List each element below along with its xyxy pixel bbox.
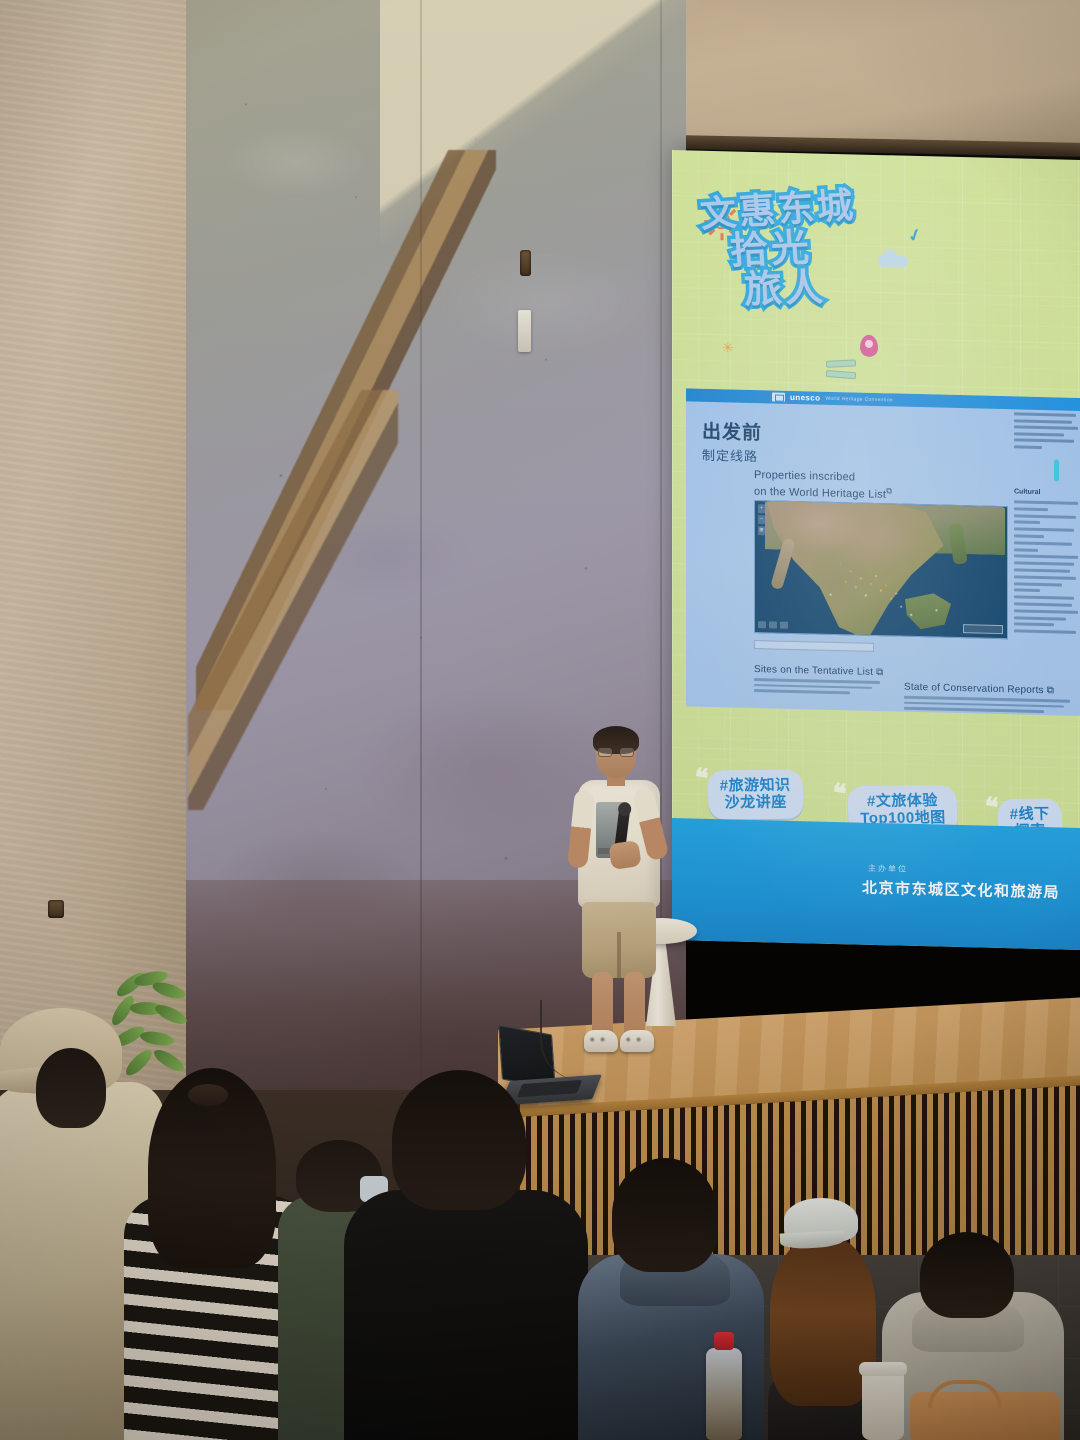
slide-heading-cn: 出发前 xyxy=(702,417,762,445)
properties-heading-line1: Properties inscribed xyxy=(754,469,855,483)
external-link-icon[interactable]: ⧉ xyxy=(886,486,892,495)
drink-bottle xyxy=(706,1348,742,1440)
scrollbar-thumb[interactable] xyxy=(1054,459,1059,481)
tentative-list-body xyxy=(754,678,884,698)
unesco-subtitle: World Heritage Convention xyxy=(825,395,892,403)
wall-fixture-icon xyxy=(518,310,531,352)
audience-member-black-shirt xyxy=(344,1190,588,1440)
organizer-label: 主办单位 xyxy=(868,863,908,875)
quote-mark: ❝ xyxy=(830,777,848,810)
conservation-heading-text: State of Conservation Reports xyxy=(904,682,1044,696)
slide-title-art: ✓ ✳ 文惠东城 拾光 旅人 xyxy=(700,189,890,310)
map-site-markers xyxy=(755,501,1007,638)
map-zoom-controls[interactable]: +−⊞ xyxy=(758,504,765,537)
coffee-cup xyxy=(862,1372,904,1440)
hashtag-1-line2: 沙龙讲座 xyxy=(724,794,787,812)
map-pin-icon xyxy=(860,335,878,357)
hashtag-2-line1: #文旅体验 xyxy=(867,792,938,810)
audience-member-hair xyxy=(920,1232,1014,1318)
audience-member-hair xyxy=(392,1070,526,1210)
plaster-column xyxy=(0,0,192,1120)
unesco-brand: unesco xyxy=(790,393,820,403)
audience-member-hair xyxy=(612,1158,718,1272)
organizer-name: 北京市东城区文化和旅游局 xyxy=(862,877,1060,903)
hashtag-chip-1: #旅游知识 沙龙讲座 xyxy=(707,770,803,820)
slide-footer-band: 主办单位 北京市东城区文化和旅游局 xyxy=(672,818,1080,950)
tentative-list-heading: Sites on the Tentative List ⧉ xyxy=(754,664,884,678)
conservation-heading: State of Conservation Reports ⧉ xyxy=(904,682,1054,697)
leather-bag xyxy=(910,1392,1060,1440)
cultural-site-list[interactable] xyxy=(1014,500,1080,638)
title-line-1: 文惠东城 xyxy=(699,185,891,233)
sparkle-icon: ✳ xyxy=(722,339,734,356)
map-layer-controls[interactable] xyxy=(758,621,788,629)
presenter-leg-right xyxy=(624,972,645,1038)
wall-hole xyxy=(520,250,531,276)
projection-screen: ✓ ✳ 文惠东城 拾光 旅人 unesco World Heritage Con… xyxy=(672,150,1080,950)
presenter-shoe-right xyxy=(620,1030,654,1052)
read-more-button[interactable] xyxy=(754,640,874,652)
heritage-map[interactable]: +−⊞ xyxy=(754,500,1008,639)
signpost-icon xyxy=(826,360,860,383)
title-line-2: 拾光 xyxy=(729,226,891,271)
presenter-shorts xyxy=(582,902,656,978)
cultural-heading: Cultural xyxy=(1014,488,1040,496)
external-link-icon[interactable]: ⧉ xyxy=(876,667,883,678)
wall-joint-line xyxy=(420,0,422,1160)
unesco-webpage-screenshot: unesco World Heritage Convention 出发前 制定线… xyxy=(686,388,1080,716)
eyeglasses-icon xyxy=(598,748,634,757)
tentative-list-heading-text: Sites on the Tentative List xyxy=(754,664,873,678)
photo-scene: ✓ ✳ 文惠东城 拾光 旅人 unesco World Heritage Con… xyxy=(0,0,1080,1440)
unesco-logo-icon xyxy=(772,392,785,401)
title-line-3: 旅人 xyxy=(743,268,891,310)
slide-subheading-cn: 制定线路 xyxy=(702,445,758,465)
map-scale-bar xyxy=(963,624,1003,634)
audience-member-hair xyxy=(148,1068,276,1268)
sidebar-top-links[interactable] xyxy=(1014,412,1080,453)
presenter-hands xyxy=(608,840,641,870)
external-link-icon[interactable]: ⧉ xyxy=(1047,685,1054,696)
properties-heading-line2: on the World Heritage List xyxy=(754,486,886,501)
wall-hole xyxy=(48,900,64,918)
wall-erosion-seam-lower xyxy=(188,390,398,810)
hashtag-1-line1: #旅游知识 xyxy=(719,777,790,795)
audience-member-hair xyxy=(36,1048,106,1128)
audience-member-hair xyxy=(770,1236,876,1406)
hashtag-3-line1: #线下 xyxy=(1009,806,1049,823)
properties-heading: Properties inscribed on the World Herita… xyxy=(754,468,892,503)
